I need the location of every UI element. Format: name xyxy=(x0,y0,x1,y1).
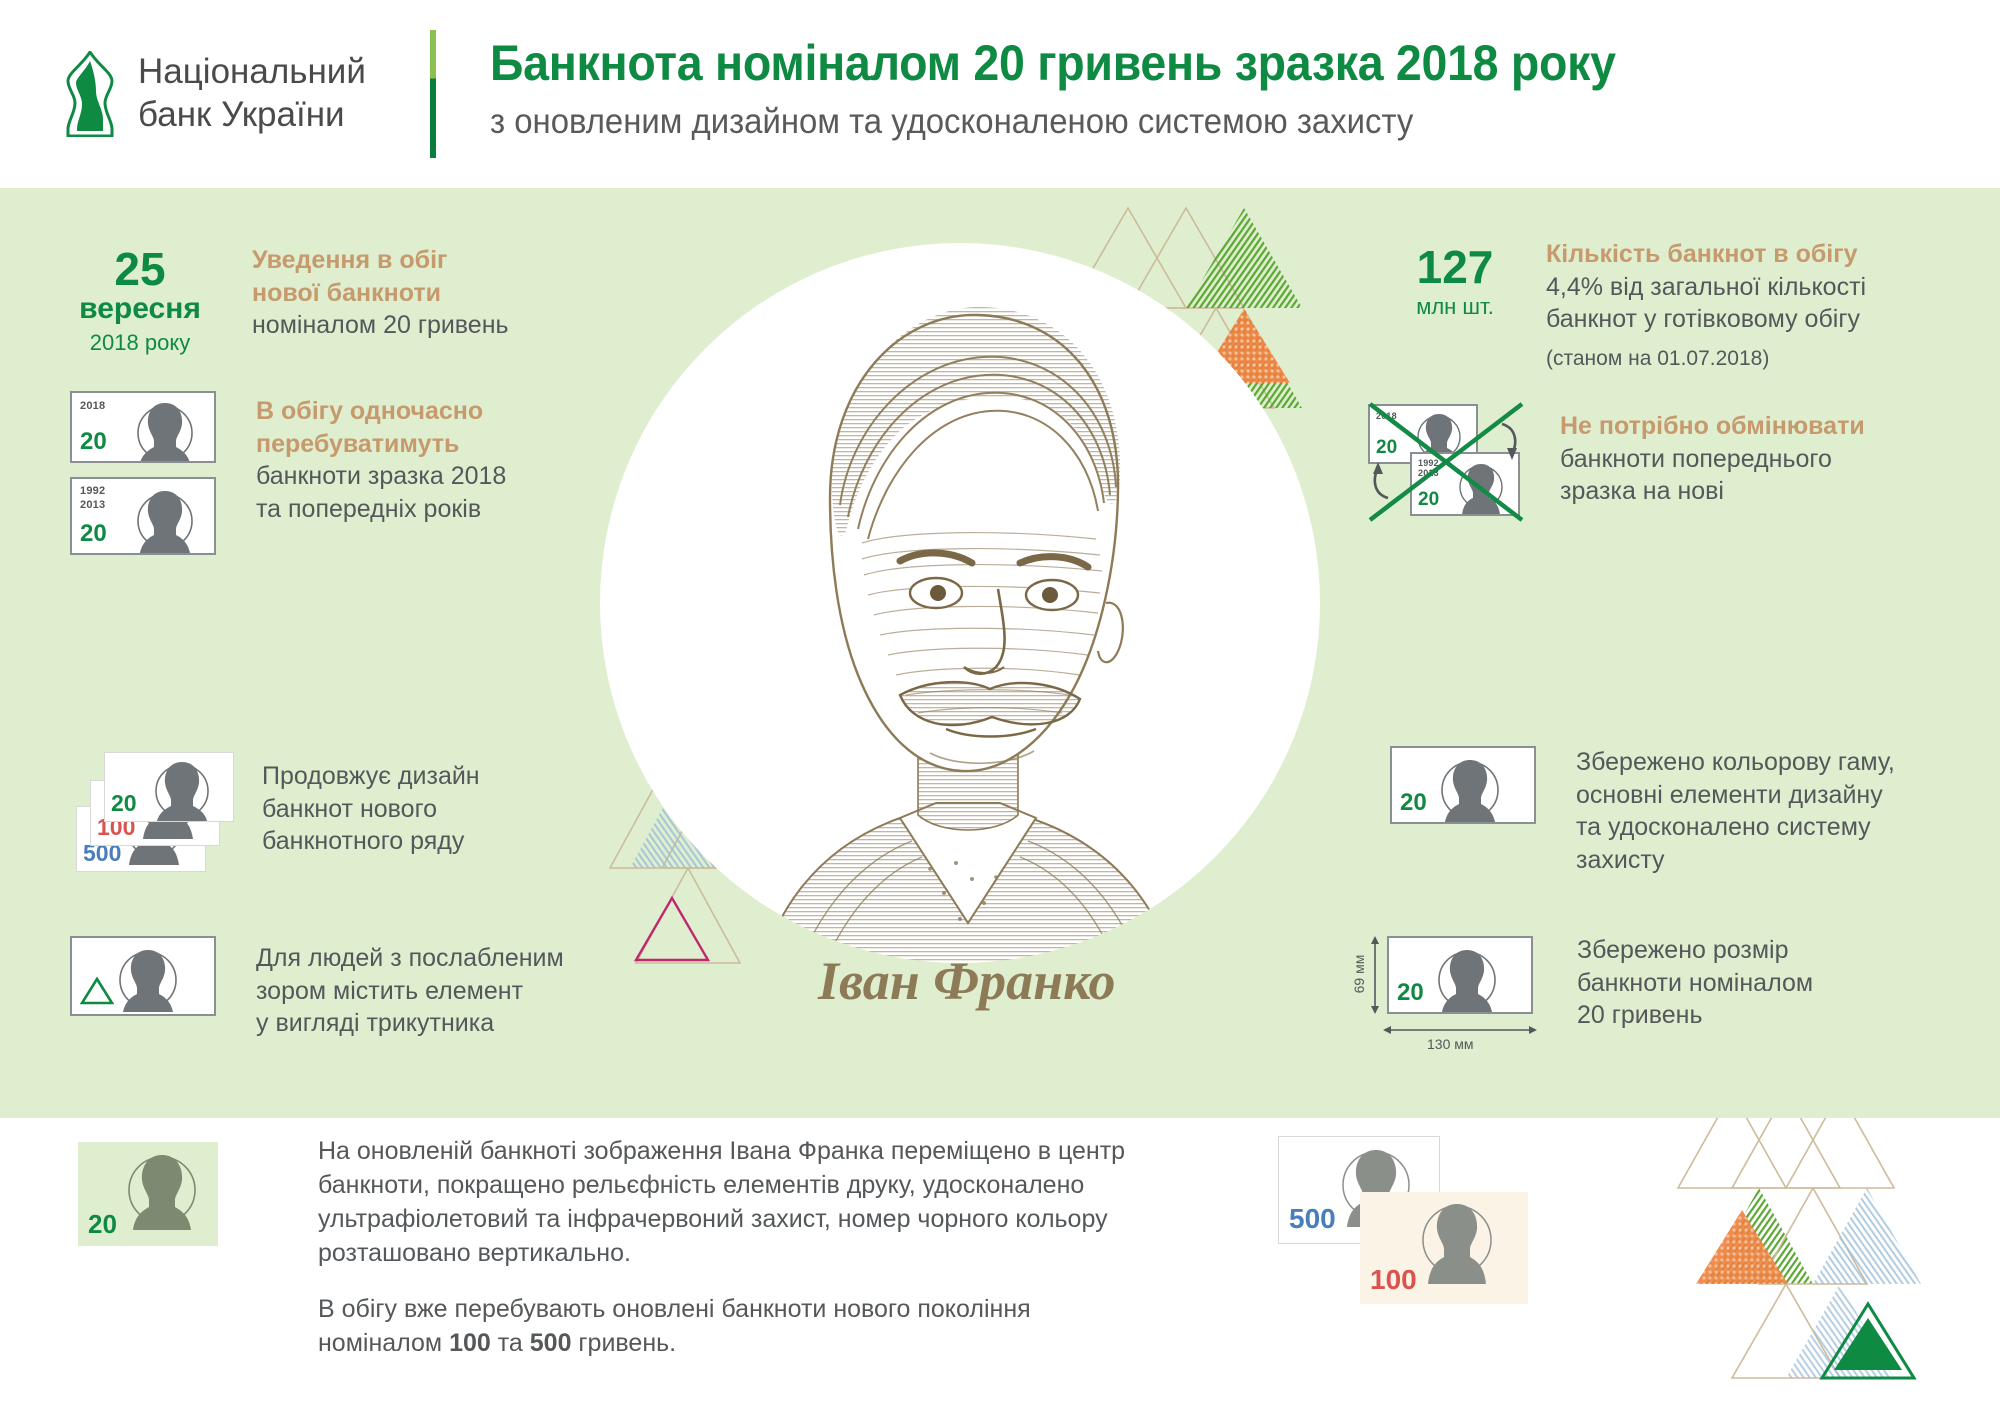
body-line-2: основні елементи дизайну xyxy=(1576,779,1895,812)
banknotes-100-500-icon: 500 100 xyxy=(1278,1136,1558,1316)
logo-line-2: банк України xyxy=(138,94,366,137)
body-line-1: 4,4% від загальної кількості xyxy=(1546,271,1866,304)
banknote-denomination: 20 xyxy=(1400,789,1427,817)
banknote-denomination: 20 xyxy=(80,520,107,548)
body-line-1: Продовжує дизайн xyxy=(262,760,480,793)
banknote-denomination: 20 xyxy=(88,1209,117,1240)
body-line-3: 20 гривень xyxy=(1577,999,1813,1032)
stacked-banknotes-icon: 500 100 20 xyxy=(70,750,240,880)
decorative-triangles-bottom xyxy=(1672,1118,2000,1414)
left-item-triangle: Для людей з послабленим зором містить ел… xyxy=(70,936,690,1040)
date-day: 25 xyxy=(70,246,210,292)
p2-line-1: В обігу вже перебувають оновлені банкнот… xyxy=(318,1292,1298,1326)
body-line-1: банкноти попереднього xyxy=(1560,443,1865,476)
p1-line-4: розташовано вертикально. xyxy=(318,1236,1298,1270)
nbu-logo-text: Національний банк України xyxy=(118,51,366,136)
bottom-paragraphs: На оновленій банкноті зображення Івана Ф… xyxy=(318,1134,1298,1360)
left-item-series-text: Продовжує дизайн банкнот нового банкнотн… xyxy=(262,750,480,880)
banknote-dimensions-icon: 20 69 мм 130 мм xyxy=(1345,930,1545,1060)
right-item-circulation: 127 млн шт. Кількість банкнот в обігу 4,… xyxy=(1400,236,1980,373)
body-line-1: номіналом 20 гривень xyxy=(252,309,509,342)
body-line-2: зразка на нові xyxy=(1560,475,1865,508)
exchange-arrows-and-cross-icon xyxy=(1360,396,1530,526)
body-line-3: у вигляді трикутника xyxy=(256,1007,564,1040)
body-line-3: та удосконалено систему xyxy=(1576,811,1895,844)
left-item-coexist-text: В обігу одночасно перебуватимуть банкнот… xyxy=(256,391,506,551)
bottom-section: 20 На оновленій банкноті зображення Іван… xyxy=(0,1118,2000,1414)
circulation-value: 127 xyxy=(1400,244,1510,290)
p2-suffix: гривень. xyxy=(571,1329,676,1357)
right-item-colors: 20 Збережено кольорову гаму, основні еле… xyxy=(1390,746,2000,876)
head-line-2: нової банкноти xyxy=(252,277,509,310)
banknote-20: 20 xyxy=(1390,746,1536,824)
banknote-with-triangle xyxy=(70,936,216,1016)
date-stat: 25 вересня 2018 року xyxy=(70,240,210,359)
dimension-width-label: 130 мм xyxy=(1427,1036,1474,1052)
head-line-1: В обігу одночасно xyxy=(256,395,506,428)
body-line-2: банкноти номіналом xyxy=(1577,967,1813,1000)
nbu-logo-icon xyxy=(62,51,118,137)
right-item-circulation-text: Кількість банкнот в обігу 4,4% від загал… xyxy=(1546,236,1866,373)
banknote-100: 100 xyxy=(1360,1192,1528,1304)
left-item-date-text: Уведення в обіг нової банкноти номіналом… xyxy=(252,240,509,359)
banknote-20: 20 xyxy=(104,752,234,822)
banknote-year: 2018 xyxy=(80,400,105,413)
ivan-franko-portrait xyxy=(600,243,1320,1033)
body-line-3: банкнотного ряду xyxy=(262,825,480,858)
body-line-2: та попередніх років xyxy=(256,493,506,526)
signature-text: Іван Франко xyxy=(817,951,1115,1011)
right-item-colors-text: Збережено кольорову гаму, основні елемен… xyxy=(1576,746,1895,876)
body-line-2: зором містить елемент xyxy=(256,975,564,1008)
head-line-1: Не потрібно обмінювати xyxy=(1560,410,1865,443)
p2-den-100: 100 xyxy=(449,1329,491,1357)
date-month: вересня xyxy=(70,292,210,326)
circulation-as-of-note: (станом на 01.07.2018) xyxy=(1546,344,1866,373)
page-title: Банкнота номіналом 20 гривень зразка 201… xyxy=(490,34,1616,92)
page-subtitle: з оновленим дизайном та удосконаленою си… xyxy=(490,102,1628,142)
head-line-1: Уведення в обіг xyxy=(252,244,509,277)
right-item-no-exchange: 2018 20 1992 2013 20 xyxy=(1360,396,1980,526)
date-year: 2018 року xyxy=(70,326,210,359)
p2-den-500: 500 xyxy=(530,1329,572,1357)
p2-line-2: номіналом 100 та 500 гривень. xyxy=(318,1326,1298,1360)
p2-prefix: номіналом xyxy=(318,1329,449,1357)
left-item-triangle-text: Для людей з послабленим зором містить ел… xyxy=(256,936,564,1040)
banknote-denomination-20: 20 xyxy=(111,790,137,817)
banknote-1992-2013: 1992 2013 20 xyxy=(70,477,216,555)
head-line-2: перебуватимуть xyxy=(256,428,506,461)
body-line-2: банкнот у готівковому обігу xyxy=(1546,303,1866,336)
banknote-triangle-icon xyxy=(70,936,220,1026)
banknote-denomination-100: 100 xyxy=(1370,1264,1417,1296)
body-line-1: Збережено кольорову гаму, xyxy=(1576,746,1895,779)
logo-line-1: Національний xyxy=(138,51,366,94)
header-divider xyxy=(430,30,436,158)
right-item-dimensions: 20 69 мм 130 мм Збережено розмір банкнот… xyxy=(1345,930,1995,1060)
body-line-2: банкнот нового xyxy=(262,793,480,826)
banknote-2018: 2018 20 xyxy=(70,391,216,463)
two-banknotes-icon: 2018 20 1992 2013 20 xyxy=(70,391,220,551)
body-line-1: Збережено розмір xyxy=(1577,934,1813,967)
body-line-1: банкноти зразка 2018 xyxy=(256,460,506,493)
signature-glyph: Іван Франко xyxy=(810,943,1150,1023)
portrait-silhouette-icon xyxy=(112,944,184,1012)
main-panel: Іван Франко 25 вересня 2018 року Уведенн… xyxy=(0,188,2000,1118)
portrait-silhouette-icon xyxy=(130,397,200,463)
circulation-unit: млн шт. xyxy=(1400,290,1510,323)
portrait-signature: Іван Франко xyxy=(810,943,1150,1028)
left-item-series: 500 100 20 Пр xyxy=(70,750,690,880)
head-line-1: Кількість банкнот в обігу xyxy=(1546,238,1866,271)
portrait-silhouette-icon xyxy=(1434,754,1506,822)
no-exchange-icon: 2018 20 1992 2013 20 xyxy=(1360,396,1530,526)
portrait-silhouette-icon xyxy=(1412,1196,1502,1284)
portrait-silhouette-icon xyxy=(130,485,200,553)
left-item-coexist: 2018 20 1992 2013 20 В обігу одночасно п… xyxy=(70,391,690,551)
nbu-logo: Національний банк України xyxy=(62,51,366,137)
bottom-paragraph-1: На оновленій банкноті зображення Івана Ф… xyxy=(318,1134,1298,1270)
right-item-dimensions-text: Збережено розмір банкноти номіналом 20 г… xyxy=(1577,930,1813,1060)
body-line-4: захисту xyxy=(1576,844,1895,877)
banknote-denomination: 20 xyxy=(80,428,107,456)
right-item-no-exchange-text: Не потрібно обмінювати банкноти попередн… xyxy=(1560,396,1865,526)
circulation-stat: 127 млн шт. xyxy=(1400,236,1510,373)
banknote-year-2: 2013 xyxy=(80,499,105,512)
p2-conj: та xyxy=(491,1329,530,1357)
banknote-denomination-500: 500 xyxy=(1289,1203,1336,1235)
triangle-icon xyxy=(80,976,114,1006)
left-item-date: 25 вересня 2018 року Уведення в обіг нов… xyxy=(70,240,690,359)
banknote-icon: 20 xyxy=(1390,746,1540,836)
p1-line-2: банкноти, покращено рельєфність елементі… xyxy=(318,1168,1298,1202)
banknote-20-green-icon: 20 xyxy=(78,1142,218,1246)
body-line-1: Для людей з послабленим xyxy=(256,942,564,975)
dimension-height-label: 69 мм xyxy=(1351,944,1367,1004)
page-header: Національний банк України Банкнота номін… xyxy=(0,0,2000,188)
bottom-paragraph-2: В обігу вже перебувають оновлені банкнот… xyxy=(318,1292,1298,1360)
p1-line-3: ультрафіолетовий та інфрачервоний захист… xyxy=(318,1202,1298,1236)
portrait-silhouette-icon xyxy=(147,757,217,821)
portrait-silhouette-icon xyxy=(120,1148,204,1230)
banknote-year-1: 1992 xyxy=(80,485,105,498)
p1-line-1: На оновленій банкноті зображення Івана Ф… xyxy=(318,1134,1298,1168)
